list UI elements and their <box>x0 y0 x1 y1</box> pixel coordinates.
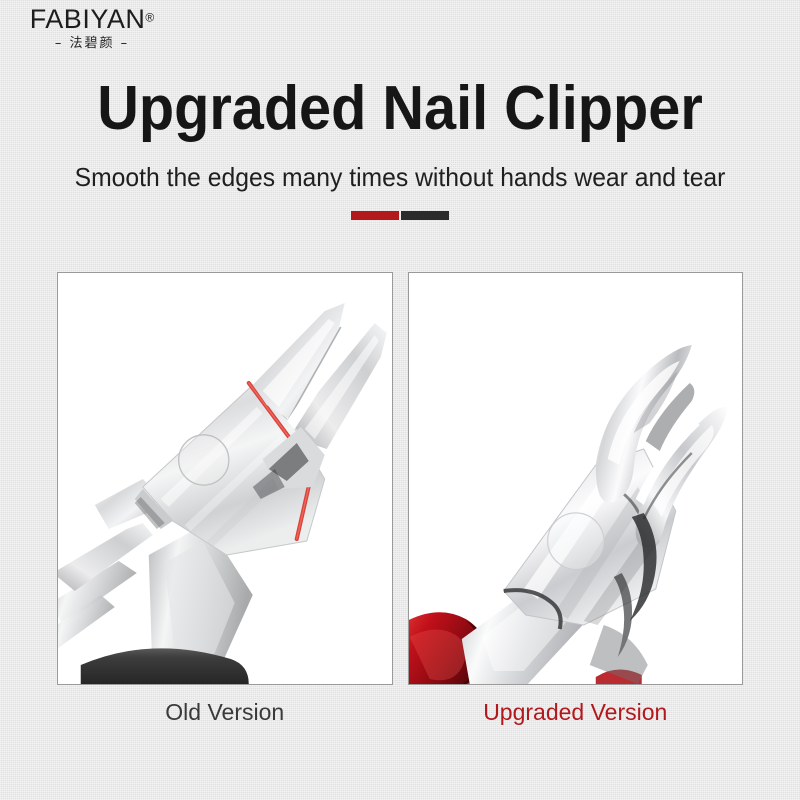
caption-upgraded-version: Upgraded Version <box>408 694 744 730</box>
brand-logo: FABIYAN® – 法碧颜 – <box>22 6 162 50</box>
page-subtitle: Smooth the edges many times without hand… <box>20 164 780 190</box>
old-nail-clipper-photo <box>58 273 392 684</box>
upgraded-nail-clipper-photo <box>409 273 743 684</box>
panel-old-version <box>57 272 393 685</box>
brand-wordmark-row: FABIYAN® <box>22 6 162 33</box>
panel-upgraded-version <box>408 272 744 685</box>
caption-old-version: Old Version <box>57 694 393 730</box>
divider-segment-red <box>351 211 399 220</box>
brand-wordmark: FABIYAN <box>30 6 146 33</box>
comparison-panels <box>57 272 743 685</box>
divider-segment-dark <box>401 211 449 220</box>
registered-trademark-icon: ® <box>145 11 154 25</box>
section-divider <box>351 211 449 220</box>
product-comparison-page: FABIYAN® – 法碧颜 – Upgraded Nail Clipper S… <box>0 0 800 800</box>
panel-captions: Old Version Upgraded Version <box>57 694 743 730</box>
page-title: Upgraded Nail Clipper <box>28 78 772 140</box>
brand-chinese-name: – 法碧颜 – <box>22 37 162 50</box>
